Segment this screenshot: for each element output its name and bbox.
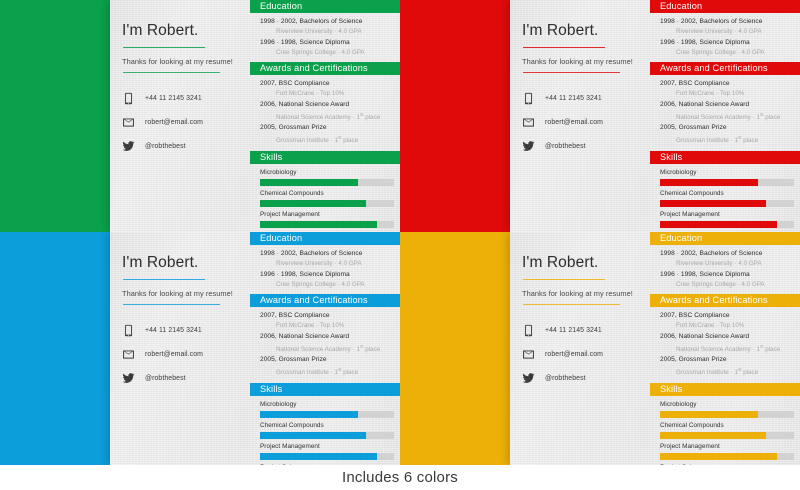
contact-item[interactable]: robert@email.com	[122, 346, 242, 362]
resume-variant-yellow[interactable]: I'm Robert.Thanks for looking at my resu…	[400, 232, 800, 465]
contact-item[interactable]: @robthebest	[522, 138, 642, 154]
section-header-awards: Awards and Certifications	[250, 294, 400, 307]
entry-title: 2006, National Science Award	[660, 100, 799, 110]
entry-subtitle: Fort McCrane · Top 10%	[660, 89, 799, 99]
section-header-skills: Skills	[650, 383, 800, 396]
contact-text: +44 11 2145 3241	[145, 95, 202, 102]
skill-bar-fill	[260, 453, 377, 460]
contact-text: @robthebest	[145, 375, 186, 382]
contact-list: +44 11 2145 3241robert@email.com@robtheb…	[122, 322, 242, 386]
skill-item: Project Management	[260, 210, 399, 228]
entry-title: 1998 · 2002, Bachelors of Science	[660, 17, 799, 27]
name-underline	[123, 279, 205, 280]
identity-column: I'm Robert.Thanks for looking at my resu…	[516, 0, 650, 232]
tagline-underline	[123, 72, 220, 73]
skill-bar-fill	[260, 411, 358, 418]
section-body-skills: MicrobiologyChemical CompoundsProject Ma…	[250, 164, 400, 232]
entry-item: 2007, BSC ComplianceFort McCrane · Top 1…	[260, 79, 399, 99]
section-body-education: 1998 · 2002, Bachelors of ScienceRivervi…	[250, 245, 400, 294]
entry-item: 1996 · 1998, Science DiplomaCree Springs…	[660, 270, 799, 290]
skill-label: Microbiology	[660, 400, 799, 410]
entry-title: 2005, Grossman Prize	[260, 123, 399, 133]
skill-label: Project Management	[260, 442, 399, 452]
entry-subtitle: Grossman Institute · 1st place	[660, 133, 799, 146]
tagline-underline	[523, 72, 620, 73]
caption-bar: Includes 6 colors	[0, 465, 800, 490]
entry-item: 1998 · 2002, Bachelors of ScienceRivervi…	[260, 17, 399, 37]
resume-variant-red[interactable]: I'm Robert.Thanks for looking at my resu…	[400, 0, 800, 232]
page-title: I'm Robert.	[122, 22, 242, 40]
entry-subtitle: Grossman Institute · 1st place	[660, 365, 799, 378]
envelope-icon	[522, 347, 537, 361]
section-body-skills: MicrobiologyChemical CompoundsProject Ma…	[250, 396, 400, 465]
section-awards: Awards and Certifications2007, BSC Compl…	[650, 62, 800, 151]
skill-bar-fill	[260, 432, 366, 439]
skill-item: Project Management	[260, 442, 399, 460]
contact-text: robert@email.com	[545, 351, 603, 358]
section-body-skills: MicrobiologyChemical CompoundsProject Ma…	[650, 396, 800, 465]
entry-item: 2005, Grossman PrizeGrossman Institute ·…	[260, 355, 399, 378]
skill-label: Microbiology	[260, 168, 399, 178]
skill-bar-fill	[660, 411, 758, 418]
entry-subtitle: Riverview University · 4.0 GPA	[260, 27, 399, 37]
contact-text: @robthebest	[545, 375, 586, 382]
entry-subtitle: Grossman Institute · 1st place	[260, 133, 399, 146]
section-education: Education1998 · 2002, Bachelors of Scien…	[250, 0, 400, 62]
entry-item: 2006, National Science AwardNational Sci…	[260, 100, 399, 123]
section-header-skills: Skills	[650, 151, 800, 164]
section-body-awards: 2007, BSC ComplianceFort McCrane · Top 1…	[250, 307, 400, 383]
skill-bar-track	[660, 179, 794, 186]
section-header-awards: Awards and Certifications	[250, 62, 400, 75]
skill-bar-track	[260, 453, 394, 460]
contact-text: robert@email.com	[145, 119, 203, 126]
entry-item: 1996 · 1998, Science DiplomaCree Springs…	[660, 38, 799, 58]
skill-bar-fill	[660, 200, 766, 207]
entry-subtitle: Grossman Institute · 1st place	[260, 365, 399, 378]
entry-title: 2007, BSC Compliance	[260, 79, 399, 89]
entry-title: 2005, Grossman Prize	[660, 123, 799, 133]
contact-text: +44 11 2145 3241	[145, 327, 202, 334]
skill-bar-fill	[260, 221, 377, 228]
resume-variant-green[interactable]: I'm Robert.Thanks for looking at my resu…	[0, 0, 400, 232]
entry-subtitle: Fort McCrane · Top 10%	[260, 89, 399, 99]
contact-list: +44 11 2145 3241robert@email.com@robtheb…	[122, 90, 242, 154]
tagline: Thanks for looking at my resume!	[122, 57, 242, 66]
contact-item[interactable]: +44 11 2145 3241	[122, 322, 242, 338]
skill-bar-track	[660, 411, 794, 418]
entry-title: 1998 · 2002, Bachelors of Science	[660, 249, 799, 259]
entry-item: 1996 · 1998, Science DiplomaCree Springs…	[260, 270, 399, 290]
contact-text: +44 11 2145 3241	[545, 327, 602, 334]
section-awards: Awards and Certifications2007, BSC Compl…	[650, 294, 800, 383]
skill-bar-track	[660, 453, 794, 460]
caption-text: Includes 6 colors	[342, 469, 458, 486]
entry-title: 2007, BSC Compliance	[260, 311, 399, 321]
entry-subtitle: Cree Springs College · 4.0 GPA	[260, 48, 399, 58]
twitter-icon	[122, 371, 137, 385]
tagline: Thanks for looking at my resume!	[522, 289, 642, 298]
entry-item: 2005, Grossman PrizeGrossman Institute ·…	[660, 123, 799, 146]
entry-subtitle: National Science Academy · 1st place	[260, 342, 399, 355]
section-header-skills: Skills	[250, 383, 400, 396]
entry-title: 1996 · 1998, Science Diploma	[260, 38, 399, 48]
contact-item[interactable]: @robthebest	[522, 370, 642, 386]
section-education: Education1998 · 2002, Bachelors of Scien…	[650, 232, 800, 294]
entry-subtitle: National Science Academy · 1st place	[260, 110, 399, 123]
preview-stage: I'm Robert.Thanks for looking at my resu…	[0, 0, 800, 490]
skill-label: Rocket Science	[660, 463, 799, 465]
identity-column: I'm Robert.Thanks for looking at my resu…	[116, 0, 250, 232]
skill-bar-track	[260, 221, 394, 228]
contact-item[interactable]: @robthebest	[122, 370, 242, 386]
skill-bar-fill	[660, 432, 766, 439]
contact-list: +44 11 2145 3241robert@email.com@robtheb…	[522, 90, 642, 154]
entry-item: 2007, BSC ComplianceFort McCrane · Top 1…	[660, 79, 799, 99]
twitter-icon	[522, 139, 537, 153]
section-skills: SkillsMicrobiologyChemical CompoundsProj…	[650, 383, 800, 465]
entry-item: 2005, Grossman PrizeGrossman Institute ·…	[260, 123, 399, 146]
entry-title: 2006, National Science Award	[260, 100, 399, 110]
entry-title: 2007, BSC Compliance	[660, 311, 799, 321]
entry-title: 1996 · 1998, Science Diploma	[660, 38, 799, 48]
envelope-icon	[122, 115, 137, 129]
contact-item[interactable]: robert@email.com	[522, 114, 642, 130]
skill-bar-track	[660, 200, 794, 207]
entry-item: 1998 · 2002, Bachelors of ScienceRivervi…	[260, 249, 399, 269]
skill-bar-fill	[260, 179, 358, 186]
section-header-education: Education	[250, 0, 400, 13]
skill-label: Chemical Compounds	[260, 421, 399, 431]
skill-bar-fill	[260, 200, 366, 207]
section-skills: SkillsMicrobiologyChemical CompoundsProj…	[250, 151, 400, 232]
section-header-awards: Awards and Certifications	[650, 294, 800, 307]
twitter-icon	[122, 139, 137, 153]
entry-item: 1996 · 1998, Science DiplomaCree Springs…	[260, 38, 399, 58]
section-body-awards: 2007, BSC ComplianceFort McCrane · Top 1…	[650, 75, 800, 151]
entry-subtitle: Fort McCrane · Top 10%	[260, 321, 399, 331]
content-column: Education1998 · 2002, Bachelors of Scien…	[650, 232, 800, 465]
skill-item: Chemical Compounds	[260, 421, 399, 439]
skill-item: Microbiology	[660, 400, 799, 418]
tagline-underline	[523, 304, 620, 305]
skill-item: Rocket Science	[260, 463, 399, 465]
content-column: Education1998 · 2002, Bachelors of Scien…	[250, 0, 400, 232]
phone-icon	[522, 323, 537, 337]
skill-bar-track	[260, 179, 394, 186]
entry-title: 2006, National Science Award	[660, 332, 799, 342]
entry-subtitle: Cree Springs College · 4.0 GPA	[660, 48, 799, 58]
skill-bar-track	[260, 411, 394, 418]
skill-item: Chemical Compounds	[660, 421, 799, 439]
contact-item[interactable]: robert@email.com	[522, 346, 642, 362]
skill-label: Chemical Compounds	[260, 189, 399, 199]
section-education: Education1998 · 2002, Bachelors of Scien…	[650, 0, 800, 62]
entry-title: 1996 · 1998, Science Diploma	[660, 270, 799, 280]
skill-label: Microbiology	[660, 168, 799, 178]
skill-bar-fill	[660, 179, 758, 186]
page-title: I'm Robert.	[522, 254, 642, 272]
entry-subtitle: Riverview University · 4.0 GPA	[260, 259, 399, 269]
entry-subtitle: National Science Academy · 1st place	[660, 110, 799, 123]
skill-bar-fill	[660, 453, 777, 460]
resume-card[interactable]: I'm Robert.Thanks for looking at my resu…	[510, 232, 800, 465]
entry-title: 1998 · 2002, Bachelors of Science	[260, 249, 399, 259]
entry-title: 1996 · 1998, Science Diploma	[260, 270, 399, 280]
contact-item[interactable]: robert@email.com	[122, 114, 242, 130]
skill-label: Rocket Science	[260, 463, 399, 465]
identity-column: I'm Robert.Thanks for looking at my resu…	[116, 232, 250, 465]
contact-text: @robthebest	[545, 143, 586, 150]
entry-title: 2006, National Science Award	[260, 332, 399, 342]
section-skills: SkillsMicrobiologyChemical CompoundsProj…	[250, 383, 400, 465]
section-body-skills: MicrobiologyChemical CompoundsProject Ma…	[650, 164, 800, 232]
skill-item: Microbiology	[260, 400, 399, 418]
section-body-education: 1998 · 2002, Bachelors of ScienceRivervi…	[650, 13, 800, 62]
entry-subtitle: Riverview University · 4.0 GPA	[660, 27, 799, 37]
section-body-education: 1998 · 2002, Bachelors of ScienceRivervi…	[650, 245, 800, 294]
skill-item: Microbiology	[660, 168, 799, 186]
entry-subtitle: Cree Springs College · 4.0 GPA	[260, 280, 399, 290]
skill-label: Project Management	[660, 210, 799, 220]
section-header-awards: Awards and Certifications	[650, 62, 800, 75]
contact-item[interactable]: +44 11 2145 3241	[522, 90, 642, 106]
skill-bar-track	[660, 221, 794, 228]
contact-item[interactable]: +44 11 2145 3241	[522, 322, 642, 338]
entry-title: 1998 · 2002, Bachelors of Science	[260, 17, 399, 27]
skill-bar-track	[260, 432, 394, 439]
skill-label: Microbiology	[260, 400, 399, 410]
entry-subtitle: Fort McCrane · Top 10%	[660, 321, 799, 331]
skill-label: Chemical Compounds	[660, 189, 799, 199]
section-header-education: Education	[250, 232, 400, 245]
entry-item: 2006, National Science AwardNational Sci…	[260, 332, 399, 355]
entry-title: 2005, Grossman Prize	[260, 355, 399, 365]
entry-item: 2006, National Science AwardNational Sci…	[660, 100, 799, 123]
twitter-icon	[522, 371, 537, 385]
entry-subtitle: National Science Academy · 1st place	[660, 342, 799, 355]
skill-item: Project Management	[660, 210, 799, 228]
page-title: I'm Robert.	[122, 254, 242, 272]
envelope-icon	[122, 347, 137, 361]
contact-item[interactable]: @robthebest	[122, 138, 242, 154]
entry-item: 2005, Grossman PrizeGrossman Institute ·…	[660, 355, 799, 378]
section-body-awards: 2007, BSC ComplianceFort McCrane · Top 1…	[250, 75, 400, 151]
section-skills: SkillsMicrobiologyChemical CompoundsProj…	[650, 151, 800, 232]
entry-item: 2007, BSC ComplianceFort McCrane · Top 1…	[260, 311, 399, 331]
skill-bar-track	[260, 200, 394, 207]
contact-text: +44 11 2145 3241	[545, 95, 602, 102]
skill-item: Project Management	[660, 442, 799, 460]
name-underline	[523, 47, 605, 48]
page-title: I'm Robert.	[522, 22, 642, 40]
resume-card[interactable]: I'm Robert.Thanks for looking at my resu…	[510, 0, 800, 232]
content-column: Education1998 · 2002, Bachelors of Scien…	[250, 232, 400, 465]
content-column: Education1998 · 2002, Bachelors of Scien…	[650, 0, 800, 232]
tagline: Thanks for looking at my resume!	[122, 289, 242, 298]
entry-item: 1998 · 2002, Bachelors of ScienceRivervi…	[660, 249, 799, 269]
skill-label: Project Management	[260, 210, 399, 220]
section-education: Education1998 · 2002, Bachelors of Scien…	[250, 232, 400, 294]
envelope-icon	[522, 115, 537, 129]
skill-label: Chemical Compounds	[660, 421, 799, 431]
tagline: Thanks for looking at my resume!	[522, 57, 642, 66]
contact-text: robert@email.com	[545, 119, 603, 126]
section-awards: Awards and Certifications2007, BSC Compl…	[250, 294, 400, 383]
identity-column: I'm Robert.Thanks for looking at my resu…	[516, 232, 650, 465]
entry-title: 2005, Grossman Prize	[660, 355, 799, 365]
name-underline	[523, 279, 605, 280]
section-awards: Awards and Certifications2007, BSC Compl…	[250, 62, 400, 151]
entry-item: 2006, National Science AwardNational Sci…	[660, 332, 799, 355]
entry-subtitle: Cree Springs College · 4.0 GPA	[660, 280, 799, 290]
tagline-underline	[123, 304, 220, 305]
skill-item: Chemical Compounds	[260, 189, 399, 207]
contact-text: robert@email.com	[145, 351, 203, 358]
skill-item: Microbiology	[260, 168, 399, 186]
resume-variant-blue[interactable]: I'm Robert.Thanks for looking at my resu…	[0, 232, 400, 465]
skill-item: Rocket Science	[660, 463, 799, 465]
entry-item: 1998 · 2002, Bachelors of ScienceRivervi…	[660, 17, 799, 37]
name-underline	[123, 47, 205, 48]
contact-text: @robthebest	[145, 143, 186, 150]
entry-subtitle: Riverview University · 4.0 GPA	[660, 259, 799, 269]
skill-bar-track	[660, 432, 794, 439]
resume-card[interactable]: I'm Robert.Thanks for looking at my resu…	[110, 0, 400, 232]
contact-item[interactable]: +44 11 2145 3241	[122, 90, 242, 106]
phone-icon	[522, 91, 537, 105]
section-body-education: 1998 · 2002, Bachelors of ScienceRivervi…	[250, 13, 400, 62]
skill-bar-fill	[660, 221, 777, 228]
skill-label: Project Management	[660, 442, 799, 452]
phone-icon	[122, 91, 137, 105]
entry-item: 2007, BSC ComplianceFort McCrane · Top 1…	[660, 311, 799, 331]
entry-title: 2007, BSC Compliance	[660, 79, 799, 89]
phone-icon	[122, 323, 137, 337]
section-body-awards: 2007, BSC ComplianceFort McCrane · Top 1…	[650, 307, 800, 383]
resume-card[interactable]: I'm Robert.Thanks for looking at my resu…	[110, 232, 400, 465]
contact-list: +44 11 2145 3241robert@email.com@robtheb…	[522, 322, 642, 386]
section-header-education: Education	[650, 232, 800, 245]
skill-item: Chemical Compounds	[660, 189, 799, 207]
section-header-skills: Skills	[250, 151, 400, 164]
section-header-education: Education	[650, 0, 800, 13]
